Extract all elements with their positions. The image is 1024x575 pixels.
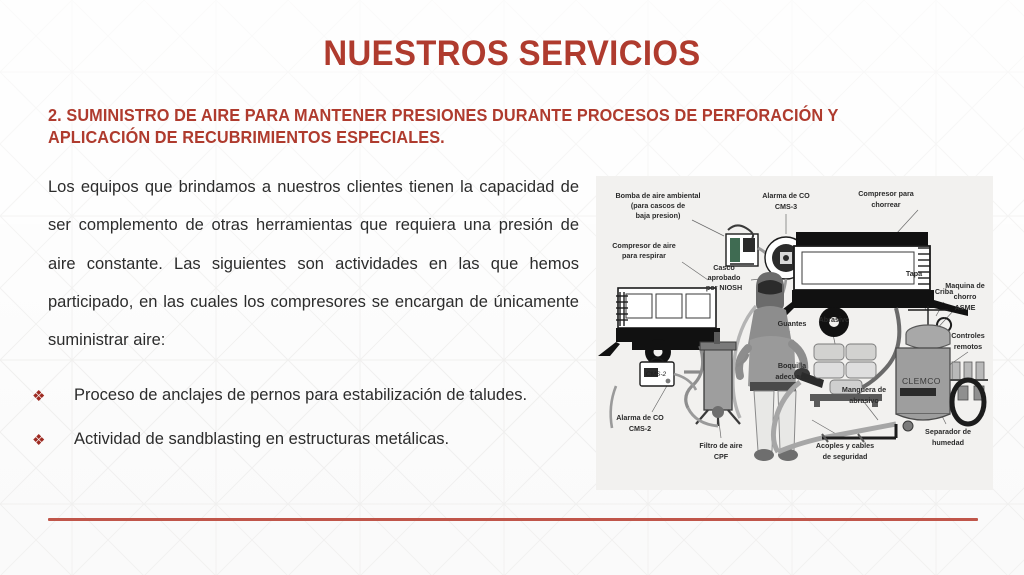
sandblasting-diagram-image: CLEMCO CM <box>596 176 993 490</box>
list-item: ❖ Actividad de sandblasting en estructur… <box>32 428 572 452</box>
figure-label-abrasivo: Abrasivo <box>819 315 850 324</box>
list-item-label: Actividad de sandblasting en estructuras… <box>72 428 572 452</box>
figure-label-bomba-l2: (para cascos de <box>631 201 685 210</box>
figure-label-compresor-chorrear-l2: chorrear <box>871 200 900 209</box>
body-paragraph: Los equipos que brindamos a nuestros cli… <box>48 168 579 359</box>
svg-text:CLEMCO: CLEMCO <box>902 376 941 386</box>
activity-list: ❖ Proceso de anclajes de pernos para est… <box>32 384 572 472</box>
figure-label-boquilla-l2: adecuada <box>775 372 809 381</box>
footer-divider <box>48 518 978 521</box>
figure-label-compresor-respirar: Compresor de aire <box>612 241 676 250</box>
list-item: ❖ Proceso de anclajes de pernos para est… <box>32 384 572 408</box>
figure-label-maquina-asme-l2: chorro <box>954 292 977 301</box>
figure-label-manguera-l2: abrasivo <box>849 396 879 405</box>
figure-label-filtro-cpf: Filtro de aire <box>699 441 742 450</box>
figure-label-maquina-asme: Maquina de <box>945 281 985 290</box>
figure-label-filtro-cpf-l2: CPF <box>714 452 729 461</box>
figure-label-alarma-cms2-l2: CMS-2 <box>629 424 651 433</box>
figure-label-compresor-respirar-l2: para respirar <box>622 251 666 260</box>
figure-label-boquilla: Boquilla <box>778 361 807 370</box>
figure-label-alarma-cms3: Alarma de CO <box>762 191 810 200</box>
figure-label-manguera: Manguera de <box>842 385 886 394</box>
figure-label-maquina-asme-l3: ASME <box>955 303 976 312</box>
diamond-bullet-icon: ❖ <box>32 384 72 408</box>
figure-label-casco-l2: aprobado <box>708 273 741 282</box>
svg-text:CMS-2: CMS-2 <box>646 371 667 378</box>
figure-label-controles: Controles <box>951 331 985 340</box>
figure-label-controles-l2: remotos <box>954 342 982 351</box>
diamond-bullet-icon: ❖ <box>32 428 72 452</box>
figure-label-compresor-chorrear: Compresor para <box>858 189 915 198</box>
figure-label-guantes: Guantes <box>778 319 807 328</box>
figure-label-acoples: Acoples y cables <box>816 441 874 450</box>
figure-label-alarma-cms2: Alarma de CO <box>616 413 664 422</box>
page-title: NUESTROS SERVICIOS <box>31 34 994 74</box>
figure-label-casco-l3: por NIOSH <box>706 283 742 292</box>
figure-label-casco: Casco <box>713 263 735 272</box>
list-item-label: Proceso de anclajes de pernos para estab… <box>72 384 572 408</box>
figure-label-alarma-cms3-l2: CMS-3 <box>775 202 797 211</box>
figure-label-acoples-l2: de seguridad <box>823 452 868 461</box>
figure-label-bomba-l3: baja presion) <box>636 211 681 220</box>
figure-label-bomba: Bomba de aire ambiental <box>615 191 700 200</box>
figure-label-separador-l2: humedad <box>932 438 964 447</box>
slide-canvas: NUESTROS SERVICIOS 2. SUMINISTRO DE AIRE… <box>0 0 1024 575</box>
figure-label-tapa: Tapa <box>906 269 923 278</box>
section-subtitle: 2. SUMINISTRO DE AIRE PARA MANTENER PRES… <box>48 104 876 149</box>
figure-label-separador: Separador de <box>925 427 971 436</box>
